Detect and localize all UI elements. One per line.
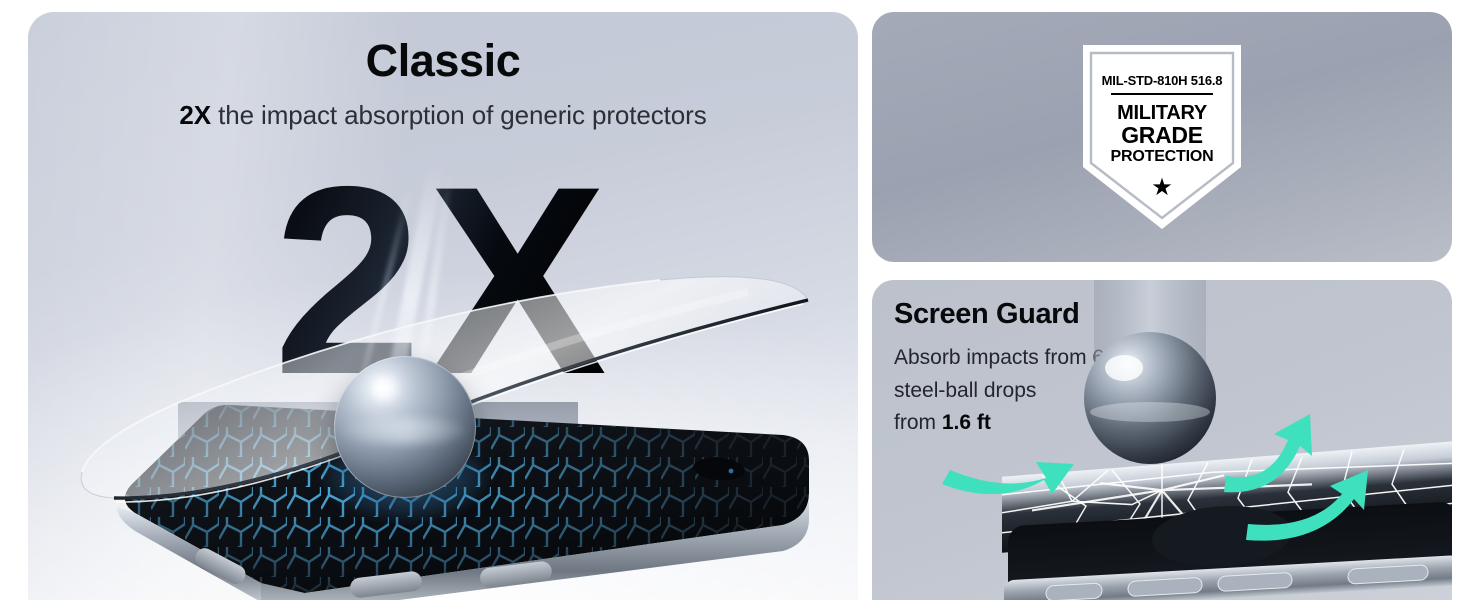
badge-line-military: MILITARY xyxy=(1077,103,1247,124)
badge-divider xyxy=(1111,93,1213,95)
badge-line-grade: GRADE xyxy=(1077,124,1247,148)
screen-guard-panel: Screen Guard Absorb impacts from 64 g st… xyxy=(872,280,1452,600)
subtitle-highlight: 2X xyxy=(179,100,211,130)
section-description: Absorb impacts from 64 g steel-ball drop… xyxy=(894,342,1194,440)
product-infographic: Classic 2X the impact absorption of gene… xyxy=(0,0,1464,600)
badge-line-protection: PROTECTION xyxy=(1077,148,1247,167)
description-line-3: from 1.6 ft xyxy=(894,407,1194,440)
ball-specular-highlight xyxy=(364,373,407,404)
section-title: Screen Guard xyxy=(894,298,1079,331)
subtitle: 2X the impact absorption of generic prot… xyxy=(28,100,858,131)
drop-height-value: 1.6 ft xyxy=(942,411,991,434)
classic-product-panel: Classic 2X the impact absorption of gene… xyxy=(28,12,858,600)
military-grade-badge: MIL-STD-810H 516.8 MILITARY GRADE PROTEC… xyxy=(1077,39,1247,235)
description-prefix: from xyxy=(894,411,942,434)
military-grade-badge-panel: MIL-STD-810H 516.8 MILITARY GRADE PROTEC… xyxy=(872,12,1452,262)
star-icon: ★ xyxy=(1077,176,1247,200)
subtitle-rest: the impact absorption of generic protect… xyxy=(211,100,707,130)
badge-standard: MIL-STD-810H 516.8 xyxy=(1077,73,1247,88)
ball-reflection-band xyxy=(343,418,468,442)
badge-text-block: MIL-STD-810H 516.8 MILITARY GRADE PROTEC… xyxy=(1077,73,1247,200)
chrome-ball-graphic xyxy=(334,356,476,498)
page-title: Classic xyxy=(28,38,858,83)
description-line-1: Absorb impacts from 64 g xyxy=(894,342,1194,375)
description-line-2: steel-ball drops xyxy=(894,375,1194,408)
